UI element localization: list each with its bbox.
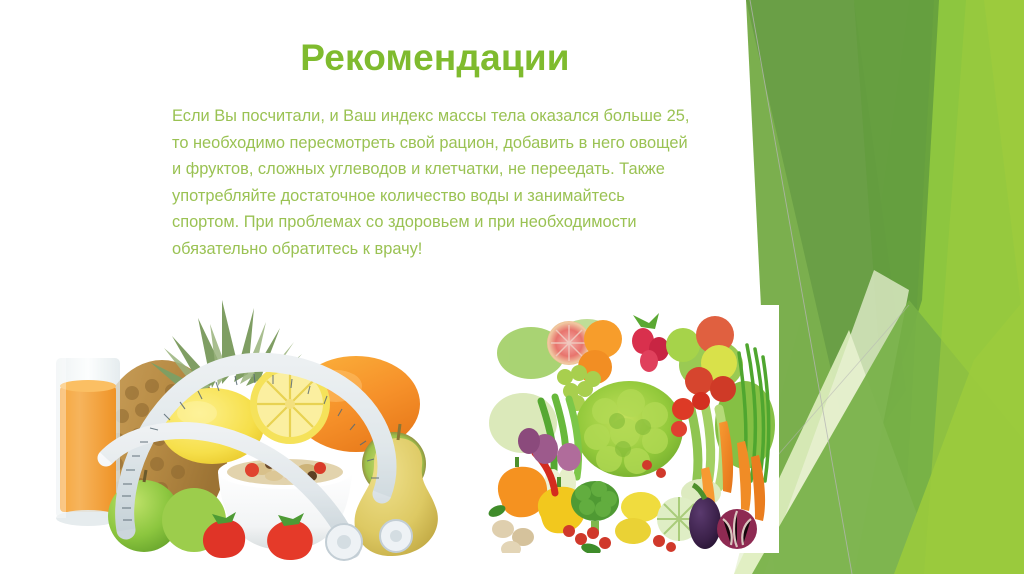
healthy-breakfast-photo <box>22 258 454 562</box>
decor-shape-bottom-bright <box>894 300 1024 574</box>
decor-shape-pale-sliver <box>764 270 909 574</box>
vegetables-photo <box>483 305 779 553</box>
page-title: Рекомендации <box>170 37 700 80</box>
decor-shape-palest <box>794 0 1024 574</box>
body-paragraph: Если Вы посчитали, и Ваш индекс массы те… <box>172 103 696 263</box>
decor-shape-right-lime <box>924 0 1024 574</box>
decor-shape-lime-band <box>854 0 1024 574</box>
orange-juice-glass <box>56 358 120 526</box>
radicchio <box>717 509 757 549</box>
lettuce-head <box>575 381 683 477</box>
decor-shape-olive <box>854 0 939 420</box>
decor-shape-bright-wedge <box>829 0 1024 574</box>
decor-shape-bottom-sweep <box>752 300 1024 574</box>
slide-canvas: Рекомендации Если Вы посчитали, и Ваш ин… <box>0 0 1024 574</box>
